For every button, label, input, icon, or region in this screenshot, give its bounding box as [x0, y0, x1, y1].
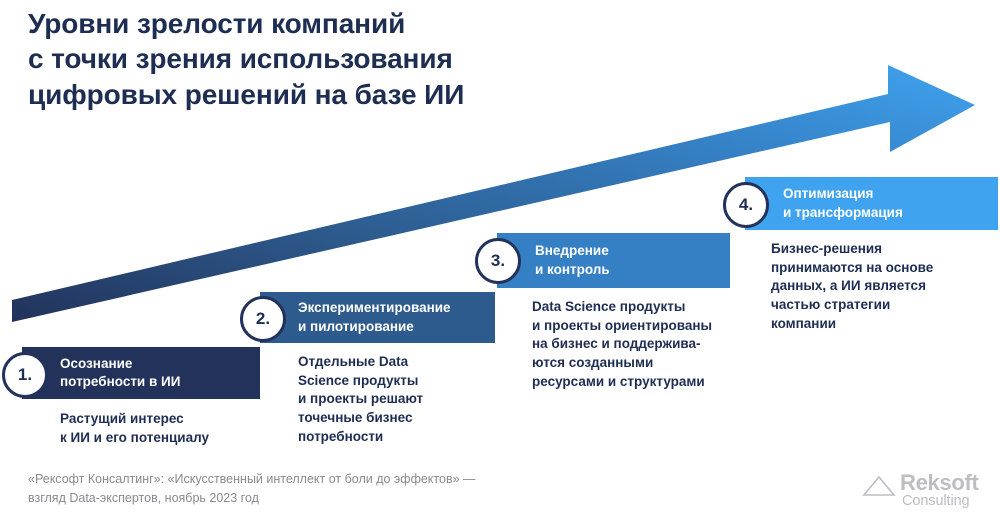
- step-1-bar[interactable]: Осознание потребности в ИИ: [22, 347, 260, 399]
- step-3-badge: 3.: [475, 238, 521, 284]
- step-3-bar[interactable]: Внедрение и контроль: [497, 233, 730, 288]
- step-4-number: 4.: [739, 195, 753, 215]
- step-4-bar[interactable]: Оптимизация и трансформация: [745, 177, 998, 230]
- step-4-label: Оптимизация и трансформация: [783, 185, 903, 221]
- step-4-description: Бизнес-решения принимаются на основе дан…: [771, 240, 1000, 333]
- logo-subtitle: Consulting: [902, 493, 970, 509]
- step-1-badge: 1.: [2, 352, 48, 398]
- step-4-badge: 4.: [723, 182, 769, 228]
- page-title: Уровни зрелости компаний с точки зрения …: [28, 6, 668, 112]
- step-2-bar[interactable]: Экспериментирование и пилотирование: [260, 292, 495, 343]
- step-2-label: Экспериментирование и пилотирование: [298, 299, 451, 335]
- step-2-number: 2.: [256, 309, 270, 329]
- step-2-badge: 2.: [240, 296, 286, 342]
- maturity-step-4: Оптимизация и трансформация 4. Бизнес-ре…: [723, 170, 1000, 350]
- triangle-outline-icon: [862, 474, 896, 498]
- step-3-number: 3.: [491, 251, 505, 271]
- footer-source-note: «Рексофт Консалтинг»: «Искусственный инт…: [28, 470, 668, 508]
- step-1-label: Осознание потребности в ИИ: [60, 355, 180, 391]
- step-1-number: 1.: [18, 365, 32, 385]
- slide-canvas: Уровни зрелости компаний с точки зрения …: [0, 0, 1000, 527]
- step-3-label: Внедрение и контроль: [535, 242, 610, 278]
- reksoft-logo: Reksoft Consulting: [862, 470, 992, 516]
